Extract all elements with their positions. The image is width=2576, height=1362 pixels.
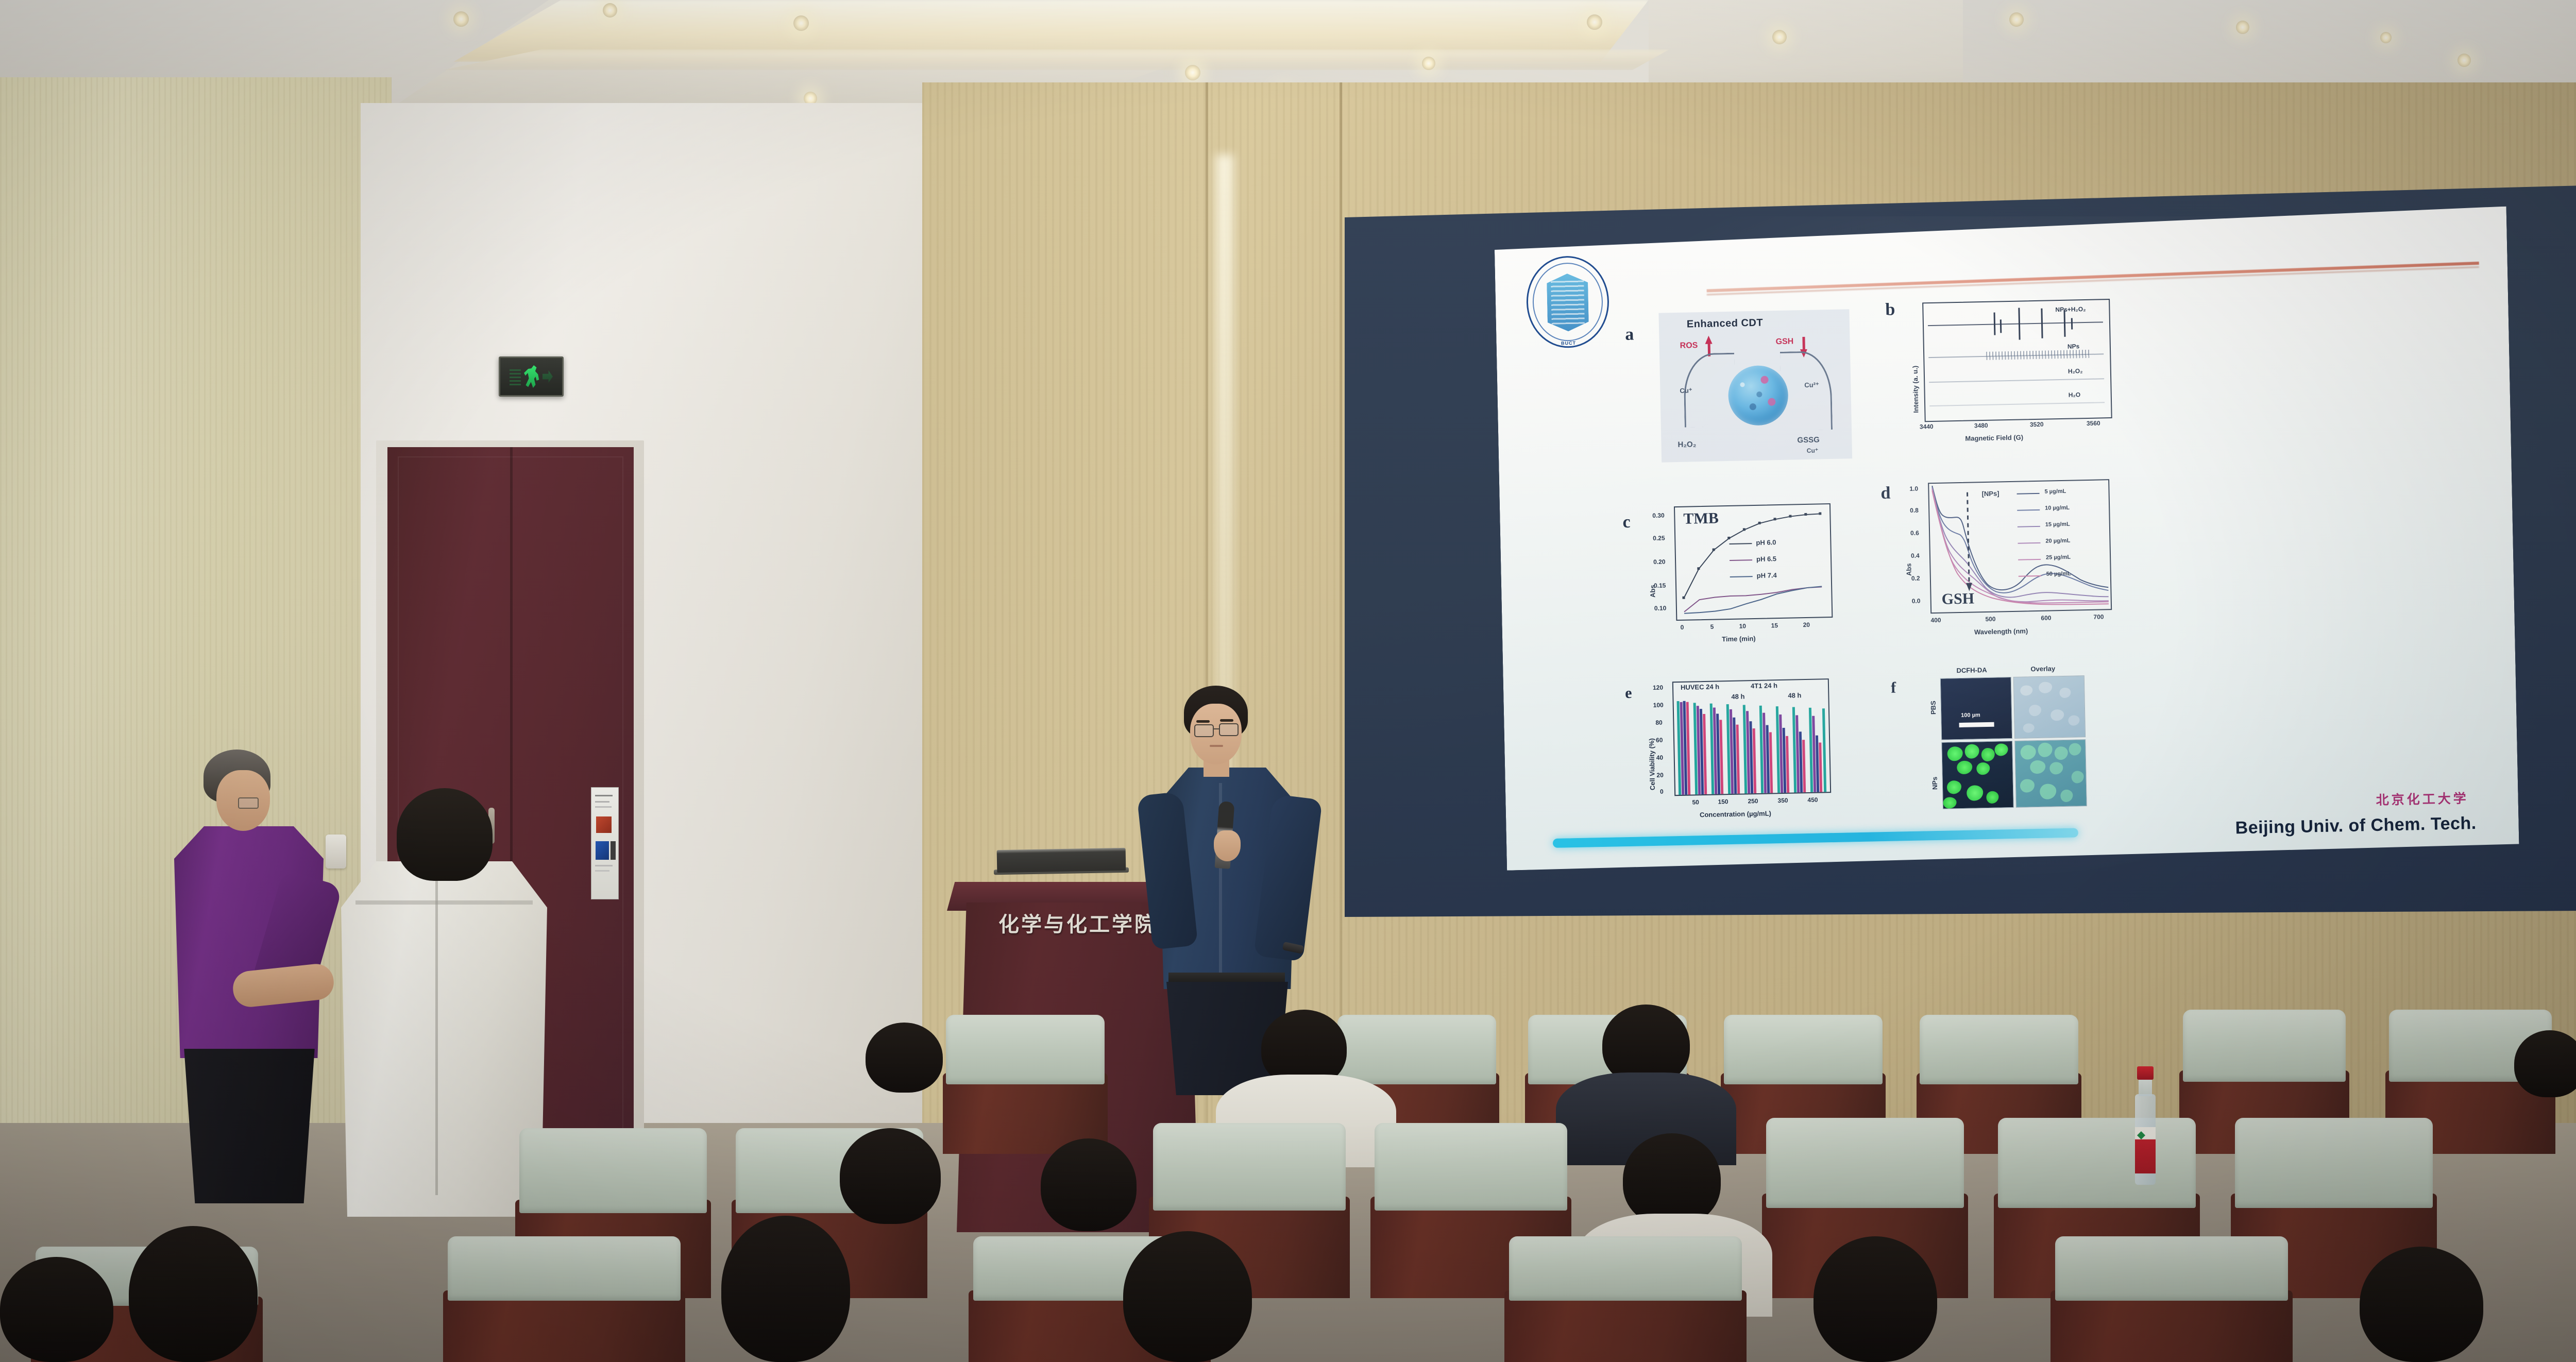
ros-up-arrow-icon bbox=[1705, 336, 1712, 344]
ceiling-downlight bbox=[2458, 54, 2471, 67]
panel-b-letter: b bbox=[1885, 300, 1895, 319]
ceiling-downlight bbox=[1772, 30, 1787, 44]
ceiling-downlight bbox=[1422, 57, 1435, 70]
panel-d-title: GSH bbox=[1941, 590, 1974, 608]
panel-d-ytick-0: 1.0 bbox=[1909, 485, 1918, 492]
panel-d-legend-3: 20 µg/mL bbox=[2045, 538, 2070, 544]
buct-seal-logo: BUCT bbox=[1526, 256, 1610, 349]
panel-c-legend-1: pH 6.5 bbox=[1756, 555, 1776, 563]
panel-e-legend-0: HUVEC 24 h bbox=[1681, 683, 1719, 691]
ceiling-downlight bbox=[2380, 32, 2392, 43]
door-poster bbox=[591, 787, 619, 899]
panel-d-ytick-4: 0.2 bbox=[1911, 575, 1920, 582]
audience-head bbox=[129, 1226, 258, 1362]
panel-d-plot-area: GSH bbox=[1928, 479, 2112, 614]
exit-arrow-icon bbox=[543, 369, 553, 384]
bar bbox=[1822, 708, 1826, 792]
panel-b-trace-label-1: NPs bbox=[2067, 343, 2080, 350]
epr-trace-h2o bbox=[1929, 402, 2105, 406]
slide-divider-shadow bbox=[1707, 266, 2479, 296]
panel-d-legend-1: 10 µg/mL bbox=[2045, 505, 2070, 512]
panel-b-plot-area bbox=[1922, 299, 2112, 422]
panel-e-ytick-0: 120 bbox=[1653, 684, 1663, 691]
panel-d-legend-0: 5 µg/mL bbox=[2044, 488, 2066, 495]
panel-c-xlabel: Time (min) bbox=[1722, 635, 1756, 643]
panel-f-row-0: PBS bbox=[1929, 701, 1938, 714]
panel-e-xtick-3: 350 bbox=[1777, 797, 1788, 804]
panel-c-letter: c bbox=[1622, 513, 1631, 532]
water-bottle[interactable] bbox=[2133, 1066, 2158, 1185]
panel-c-legend-2: pH 7.4 bbox=[1757, 571, 1777, 580]
presenter-glasses bbox=[1194, 724, 1214, 737]
micrograph-nps-dcfh bbox=[1941, 741, 2014, 809]
panel-d-legend-4: 25 µg/mL bbox=[2046, 554, 2071, 561]
lecture-hall-photo: BUCT a Enhanced CDT ROS GSH Cu⁺ Cu²⁺ H₂O… bbox=[0, 0, 2576, 1362]
panel-e: e Cell Viability (%) 120 100 80 60 40 20… bbox=[1625, 672, 1880, 832]
exit-text-left bbox=[510, 368, 521, 385]
panel-d-xlabel: Wavelength (nm) bbox=[1974, 627, 2028, 636]
panel-e-plot-area: HUVEC 24 h 4T1 24 h 48 h 48 h bbox=[1672, 678, 1831, 796]
panel-b-trace-label-3: H₂O bbox=[2069, 391, 2081, 398]
panel-e-legend-1: 48 h bbox=[1731, 692, 1744, 701]
scale-bar-label: 100 µm bbox=[1961, 712, 1980, 719]
panel-e-xtick-2: 250 bbox=[1748, 797, 1758, 805]
ceiling-downlight bbox=[603, 3, 617, 18]
ceiling-downlight bbox=[453, 11, 469, 27]
bar bbox=[1769, 732, 1773, 793]
micrograph-pbs-dcfh: 100 µm bbox=[1940, 677, 2012, 740]
panel-e-ytick-6: 0 bbox=[1660, 788, 1664, 795]
epr-trace-nps-h2o2 bbox=[1928, 321, 2103, 326]
panel-b-xtick-3: 3560 bbox=[2087, 419, 2100, 427]
presenter-laptop[interactable] bbox=[997, 848, 1126, 873]
observer-hair bbox=[397, 788, 493, 881]
panel-e-legend-2: 4T1 24 h bbox=[1751, 682, 1777, 690]
panel-f-col-0: DCFH-DA bbox=[1956, 666, 1987, 674]
panel-c-ytick-3: 0.15 bbox=[1654, 582, 1666, 589]
panel-d-xtick-2: 600 bbox=[2041, 614, 2051, 621]
panel-c-legend-0: pH 6.0 bbox=[1756, 538, 1776, 547]
panel-c-xtick-0: 0 bbox=[1681, 624, 1684, 631]
panel-a-label-h2o2: H₂O₂ bbox=[1677, 440, 1696, 449]
panel-f-letter: f bbox=[1891, 679, 1896, 697]
auditorium-seat[interactable] bbox=[443, 1236, 685, 1362]
panel-f-col-1: Overlay bbox=[2030, 665, 2055, 673]
panel-d-ytick-3: 0.4 bbox=[1911, 552, 1920, 559]
cove-edge bbox=[443, 49, 1669, 70]
panel-a-label-cu1: Cu⁺ bbox=[1680, 386, 1692, 395]
panel-c-xtick-2: 10 bbox=[1739, 622, 1747, 629]
panel-b: b Intensity (a. u.) NPs+H₂O₂ NPs bbox=[1885, 291, 2136, 466]
audience-head bbox=[721, 1216, 850, 1362]
panel-c-ytick-1: 0.25 bbox=[1653, 534, 1665, 541]
panel-c-ytick-0: 0.30 bbox=[1652, 512, 1665, 519]
panel-d: d Abs 1.0 0.8 0.6 0.4 0.2 0.0 GSH bbox=[1880, 475, 2142, 656]
presenter-glasses bbox=[1219, 723, 1239, 736]
presenter-hand bbox=[1214, 830, 1241, 861]
slide-divider-line bbox=[1707, 262, 2479, 293]
panel-e-ytick-4: 40 bbox=[1656, 754, 1664, 761]
auditorium-seat[interactable] bbox=[943, 1015, 1108, 1154]
panel-c-plot-area: TMB bbox=[1674, 503, 1833, 621]
panel-d-xtick-0: 400 bbox=[1930, 617, 1941, 624]
panel-f: f DCFH-DA Overlay PBS NPs 100 µm bbox=[1890, 663, 2136, 822]
audience-head bbox=[1041, 1138, 1137, 1231]
panel-c-title: TMB bbox=[1683, 509, 1719, 527]
audience-head bbox=[840, 1128, 941, 1224]
panel-a: a Enhanced CDT ROS GSH Cu⁺ Cu²⁺ H₂O₂ GSS… bbox=[1624, 307, 1865, 466]
observer-glasses bbox=[238, 797, 259, 809]
panel-c-ytick-2: 0.20 bbox=[1653, 558, 1666, 565]
panel-e-legend-3: 48 h bbox=[1788, 691, 1801, 700]
panel-b-xlabel: Magnetic Field (G) bbox=[1965, 433, 2023, 442]
panel-a-label-cu2: Cu²⁺ bbox=[1804, 381, 1819, 389]
bar bbox=[1802, 740, 1806, 792]
auditorium-seat[interactable] bbox=[2050, 1236, 2293, 1362]
panel-b-xtick-0: 3440 bbox=[1920, 423, 1934, 431]
bar bbox=[1819, 742, 1822, 792]
panel-d-legend-title: [NPs] bbox=[1981, 489, 1999, 498]
panel-f-row-1: NPs bbox=[1931, 777, 1939, 790]
panel-e-xtick-0: 50 bbox=[1692, 798, 1699, 806]
panel-c-ytick-4: 0.10 bbox=[1654, 604, 1667, 611]
ceiling-downlight bbox=[793, 15, 809, 31]
panel-d-ytick-2: 0.6 bbox=[1910, 530, 1919, 537]
panel-b-trace-label-0: NPs+H₂O₂ bbox=[2055, 305, 2086, 313]
panel-c: c Abs 0.30 0.25 0.20 0.15 0.10 bbox=[1622, 487, 1868, 662]
audience-head bbox=[1623, 1133, 1721, 1226]
panel-a-label-ros: ROS bbox=[1680, 341, 1698, 351]
panel-a-label-gsh: GSH bbox=[1775, 337, 1793, 347]
panel-d-ylabel: Abs bbox=[1905, 563, 1912, 576]
wall-sensor bbox=[326, 835, 346, 869]
panel-a-title: Enhanced CDT bbox=[1687, 317, 1764, 331]
panel-d-legend-5: 50 µg/mL bbox=[2046, 571, 2071, 577]
panel-b-xtick-1: 3480 bbox=[1974, 422, 1988, 430]
audience-head bbox=[1123, 1231, 1252, 1362]
panel-d-letter: d bbox=[1880, 484, 1891, 503]
auditorium-seat[interactable] bbox=[1504, 1236, 1747, 1362]
running-man-icon bbox=[523, 365, 540, 388]
audience-head bbox=[2514, 1030, 2576, 1097]
ceiling-downlight bbox=[1587, 14, 1602, 30]
panel-e-xlabel: Concentration (µg/mL) bbox=[1700, 809, 1771, 819]
panel-a-label-gssg: GSSG bbox=[1797, 435, 1820, 445]
exit-sign bbox=[499, 356, 564, 397]
panel-d-xtick-3: 700 bbox=[2093, 613, 2104, 620]
observer-trousers bbox=[181, 1049, 317, 1203]
audience-head bbox=[1814, 1236, 1937, 1362]
ceiling-downlight bbox=[2236, 21, 2249, 34]
panel-b-ylabel: Intensity (a. u.) bbox=[1911, 366, 1920, 413]
scale-bar bbox=[1959, 722, 1994, 727]
panel-e-letter: e bbox=[1625, 685, 1632, 702]
panel-c-xtick-1: 5 bbox=[1710, 623, 1714, 631]
institution-name-cn: 北京化工大学 bbox=[2376, 788, 2469, 809]
ceiling-downlight bbox=[1185, 65, 1200, 80]
panel-e-xtick-1: 150 bbox=[1718, 798, 1728, 805]
seal-text: BUCT bbox=[1527, 340, 1609, 347]
panel-e-ytick-3: 60 bbox=[1656, 737, 1663, 744]
panel-c-xtick-4: 20 bbox=[1803, 621, 1810, 628]
micrograph-pbs-overlay bbox=[2013, 675, 2086, 739]
epr-trace-h2o2 bbox=[1929, 378, 2104, 382]
panel-e-ytick-2: 80 bbox=[1655, 719, 1663, 726]
panel-e-ylabel: Cell Viability (%) bbox=[1648, 738, 1656, 790]
audience-head bbox=[0, 1257, 113, 1362]
bar bbox=[1786, 736, 1789, 793]
panel-a-letter: a bbox=[1625, 325, 1634, 345]
panel-a-label-cu-bottom: Cu⁺ bbox=[1807, 447, 1819, 454]
ceiling-downlight bbox=[2009, 12, 2024, 27]
panel-d-ytick-1: 0.8 bbox=[1910, 507, 1919, 514]
presenter-mouth bbox=[1210, 745, 1223, 747]
audience-head bbox=[866, 1023, 943, 1093]
audience-head bbox=[2360, 1247, 2483, 1362]
institution-name-en: Beijing Univ. of Chem. Tech. bbox=[2235, 813, 2477, 838]
panel-b-xtick-2: 3520 bbox=[2030, 421, 2044, 429]
panel-c-xtick-3: 15 bbox=[1771, 622, 1778, 629]
panel-e-xtick-4: 450 bbox=[1807, 796, 1818, 804]
projected-slide: BUCT a Enhanced CDT ROS GSH Cu⁺ Cu²⁺ H₂O… bbox=[1494, 207, 2519, 871]
panel-d-xtick-1: 500 bbox=[1985, 616, 1995, 623]
panel-e-ytick-5: 20 bbox=[1656, 772, 1664, 779]
panel-d-legend-2: 15 µg/mL bbox=[2045, 521, 2070, 528]
panel-e-ytick-1: 100 bbox=[1653, 702, 1664, 709]
panel-b-trace-label-2: H₂O₂ bbox=[2068, 367, 2083, 375]
micrograph-nps-overlay bbox=[2014, 739, 2087, 808]
panel-d-ytick-5: 0.0 bbox=[1912, 598, 1921, 605]
